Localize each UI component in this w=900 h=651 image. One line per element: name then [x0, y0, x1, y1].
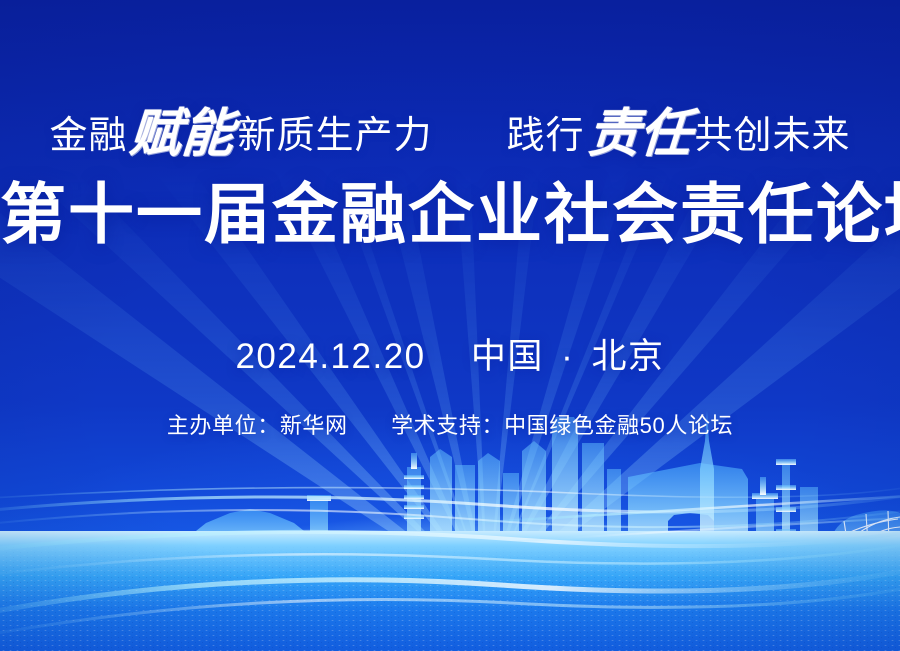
academic-support-label: 学术支持：中国绿色金融50人论坛 — [391, 413, 733, 438]
slogan-secondary-prefix: 践行 — [507, 104, 585, 159]
slogan-primary-emphasis: 赋能 — [125, 91, 240, 166]
date-location-line: 2024.12.20 中国 · 北京 — [0, 328, 900, 379]
banner-content: 金融 赋能 新质生产力 践行 责任 共创未来 第十一届金融企业社会责任论坛 20… — [0, 0, 900, 651]
event-city: 北京 — [592, 337, 665, 376]
slogan-primary-prefix: 金融 — [49, 104, 127, 159]
forum-title: 第十一届金融企业社会责任论坛 — [0, 178, 900, 252]
credits-line: 主办单位：新华网 学术支持：中国绿色金融50人论坛 — [0, 408, 900, 440]
slogan-secondary-suffix: 共创未来 — [695, 104, 851, 159]
location-separator: · — [561, 337, 574, 376]
slogan-secondary: 践行 责任 共创未来 — [507, 88, 851, 163]
slogan-primary-suffix: 新质生产力 — [237, 104, 432, 159]
slogan-secondary-emphasis: 责任 — [582, 91, 697, 166]
organizer-label: 主办单位：新华网 — [167, 413, 348, 438]
slogan-row: 金融 赋能 新质生产力 践行 责任 共创未来 — [0, 88, 900, 163]
slogan-primary: 金融 赋能 新质生产力 — [49, 88, 432, 163]
forum-banner: 金融 赋能 新质生产力 践行 责任 共创未来 第十一届金融企业社会责任论坛 20… — [0, 0, 900, 651]
event-country: 中国 — [471, 337, 544, 376]
event-date: 2024.12.20 — [235, 337, 425, 376]
